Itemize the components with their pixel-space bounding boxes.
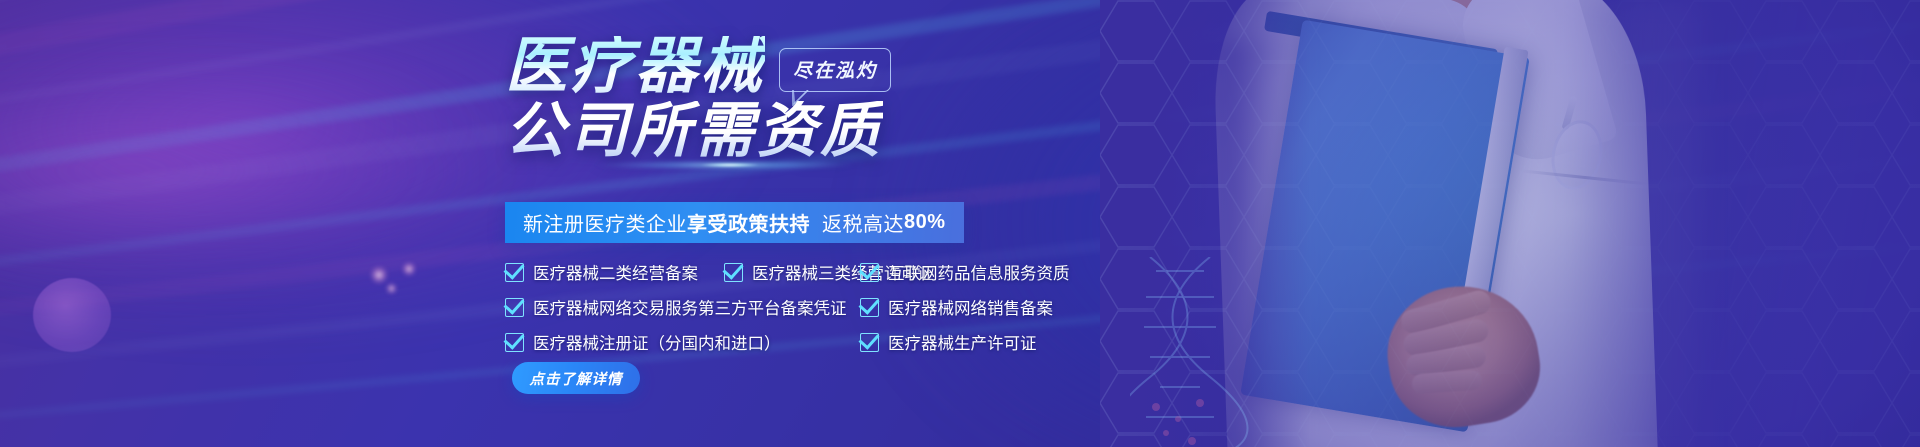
- title-main: 医疗器械: [505, 36, 765, 98]
- checklist-item[interactable]: 互联网药品信息服务资质: [860, 260, 1125, 284]
- checklist-item[interactable]: 医疗器械注册证（分国内和进口）: [505, 330, 860, 354]
- checklist-row-1-left: 医疗器械二类经营备案 医疗器械三类经营许可证: [505, 260, 860, 284]
- brand-badge-label: 尽在泓灼: [793, 61, 877, 82]
- checkbox-checked-icon: [860, 333, 879, 352]
- brand-badge: 尽在泓灼: [779, 48, 891, 92]
- cta-button[interactable]: 点击了解详情: [512, 362, 640, 394]
- title-sub: 公司所需资质: [505, 101, 883, 161]
- promo-text-bold-2: 80%: [904, 211, 946, 234]
- checklist-item[interactable]: 医疗器械网络交易服务第三方平台备案凭证: [505, 295, 860, 319]
- promo-bar: 新注册医疗类企业享受政策扶持返税高达80%: [505, 202, 964, 243]
- hero-banner: 医疗器械 尽在泓灼 公司所需资质 新注册医疗类企业享受政策扶持返税高达80%: [0, 0, 1920, 447]
- checkbox-checked-icon: [505, 298, 524, 317]
- checkbox-checked-icon: [860, 298, 879, 317]
- title-row: 医疗器械 尽在泓灼: [505, 36, 891, 98]
- promo-text-bold-1: 享受政策扶持: [687, 208, 810, 237]
- promo-text-normal-2: 返税高达: [822, 208, 904, 237]
- checkbox-checked-icon: [724, 263, 743, 282]
- checklist-item-label: 医疗器械网络交易服务第三方平台备案凭证: [533, 295, 847, 319]
- checklist-item-label: 互联网药品信息服务资质: [888, 260, 1070, 284]
- promo-text-normal-1: 新注册医疗类企业: [523, 208, 687, 237]
- qualification-checklist: 医疗器械二类经营备案 医疗器械三类经营许可证 互联网药品信息服务资质 医疗器械网…: [505, 260, 1125, 354]
- banner-content: 医疗器械 尽在泓灼 公司所需资质 新注册医疗类企业享受政策扶持返税高达80%: [0, 0, 1920, 447]
- checklist-item-label: 医疗器械生产许可证: [888, 330, 1037, 354]
- checklist-item[interactable]: 医疗器械生产许可证: [860, 330, 1125, 354]
- checkbox-checked-icon: [505, 263, 524, 282]
- checkbox-checked-icon: [505, 333, 524, 352]
- checklist-item-label: 医疗器械二类经营备案: [533, 260, 698, 284]
- checklist-item-label: 医疗器械注册证（分国内和进口）: [533, 330, 781, 354]
- checkbox-checked-icon: [860, 263, 879, 282]
- title-glow-core: [700, 163, 760, 167]
- checklist-item[interactable]: 医疗器械二类经营备案: [505, 260, 698, 284]
- checklist-item-label: 医疗器械网络销售备案: [888, 295, 1053, 319]
- checklist-item[interactable]: 医疗器械网络销售备案: [860, 295, 1125, 319]
